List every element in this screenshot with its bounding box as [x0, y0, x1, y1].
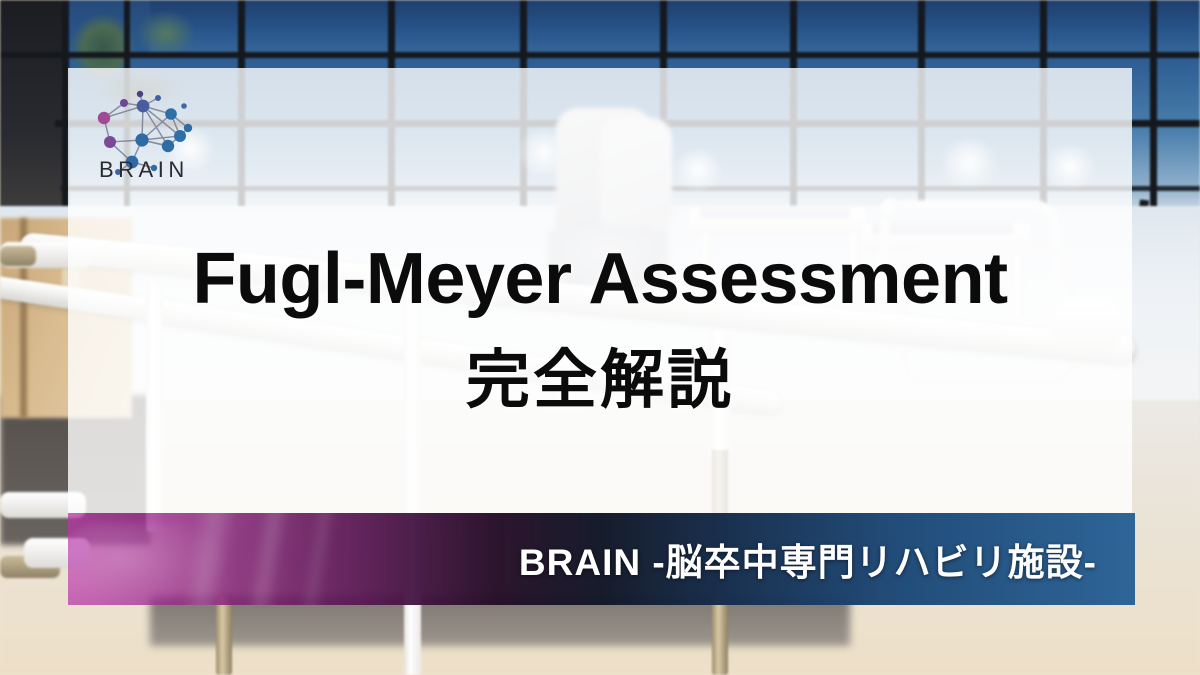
photo-mullion-v10 — [1150, 0, 1157, 212]
bottom-banner: BRAIN -脳卒中専門リハビリ施設- — [68, 513, 1135, 605]
title-card: BRAIN Fugl-Meyer Assessment 完全解説 BRAIN -… — [0, 0, 1200, 675]
page-title: Fugl-Meyer Assessment — [0, 243, 1200, 315]
photo-bar-post-4 — [216, 596, 232, 675]
page-subtitle: 完全解説 — [0, 348, 1200, 412]
photo-mullion-h1 — [0, 52, 1200, 58]
banner-label: BRAIN -脳卒中専門リハビリ施設- — [68, 513, 1135, 605]
brain-wordmark: BRAIN — [99, 157, 189, 183]
